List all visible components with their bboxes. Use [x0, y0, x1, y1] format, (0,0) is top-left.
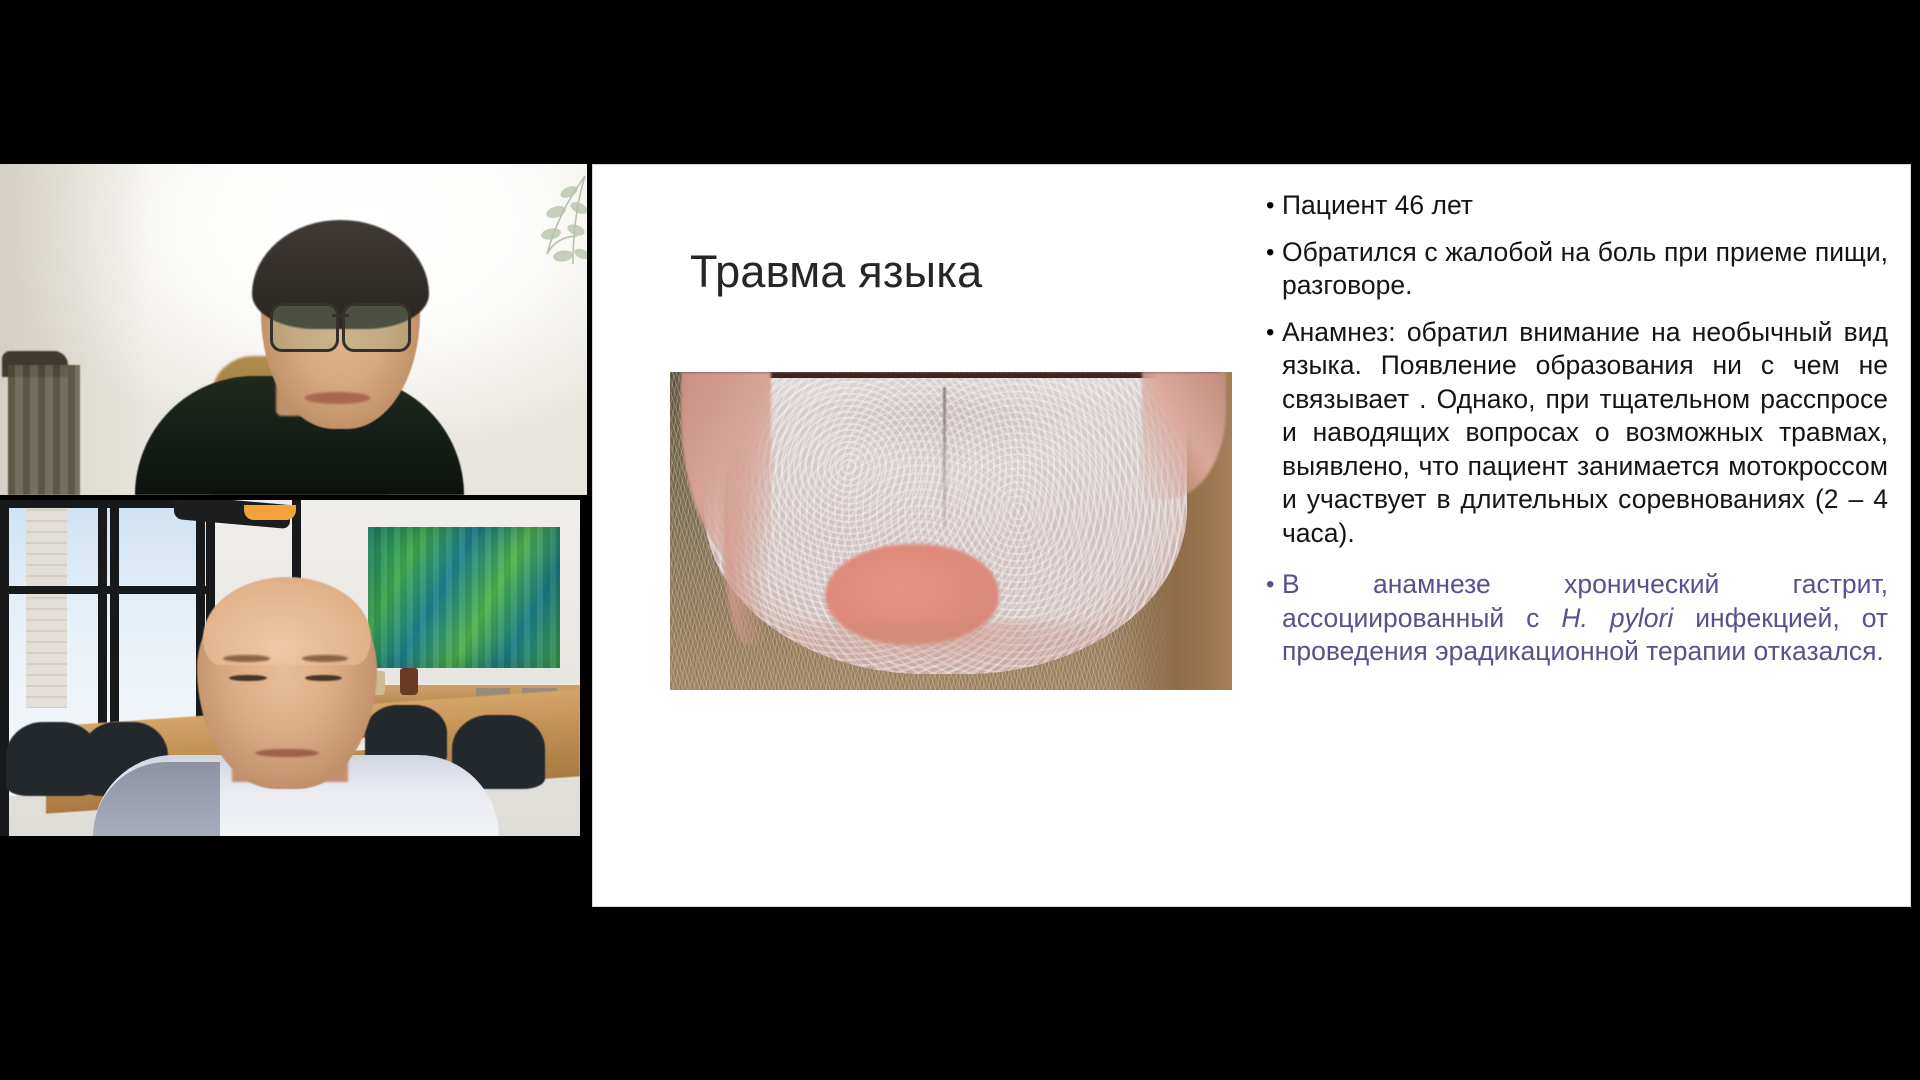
list-item: • Пациент 46 лет — [1266, 189, 1888, 223]
pendant-lamp-shade — [244, 505, 296, 520]
slide-title: Травма языка — [690, 247, 982, 297]
bullet-marker: • — [1266, 189, 1282, 222]
eyeglasses-icon — [270, 303, 411, 346]
participant-1-video-feed — [0, 164, 587, 495]
bullet-text-age: Пациент 46 лет — [1282, 189, 1888, 223]
bullet-text-anamnesis: Анамнез: обратил внимание на необычный в… — [1282, 316, 1888, 551]
list-item: • Обратился с жалобой на боль при приеме… — [1266, 236, 1888, 303]
participant-video-tile-1[interactable] — [0, 164, 587, 495]
plant-icon — [481, 168, 587, 318]
brick-column — [26, 500, 67, 708]
shared-slide[interactable]: Травма языка • Пациент 46 лет • — [593, 165, 1910, 906]
pathogen-name-italic: H. pylori — [1561, 603, 1673, 633]
participant-2-video-feed — [0, 500, 580, 836]
wall-painting — [368, 527, 559, 668]
bullet-text-complaint: Обратился с жалобой на боль при приеме п… — [1282, 236, 1888, 303]
person-mouth — [305, 392, 370, 404]
list-item: • Анамнез: обратил внимание на необычный… — [1266, 316, 1888, 551]
bullet-marker: • — [1266, 568, 1282, 601]
bottle — [400, 668, 417, 695]
slide-bullet-list: • Пациент 46 лет • Обратился с жалобой н… — [1266, 189, 1888, 682]
participant-video-tile-2[interactable] — [0, 500, 580, 836]
bullet-text-gastritis: В анамнезе хронический гастрит, ассоциир… — [1282, 568, 1888, 669]
tongue-photograph — [670, 372, 1232, 690]
radiator — [8, 365, 80, 495]
screen-share-view: Травма языка • Пациент 46 лет • — [0, 0, 1920, 1080]
bullet-marker: • — [1266, 236, 1282, 269]
bullet-marker: • — [1266, 316, 1282, 349]
list-item: • В анамнезе хронический гастрит, ассоци… — [1266, 568, 1888, 669]
